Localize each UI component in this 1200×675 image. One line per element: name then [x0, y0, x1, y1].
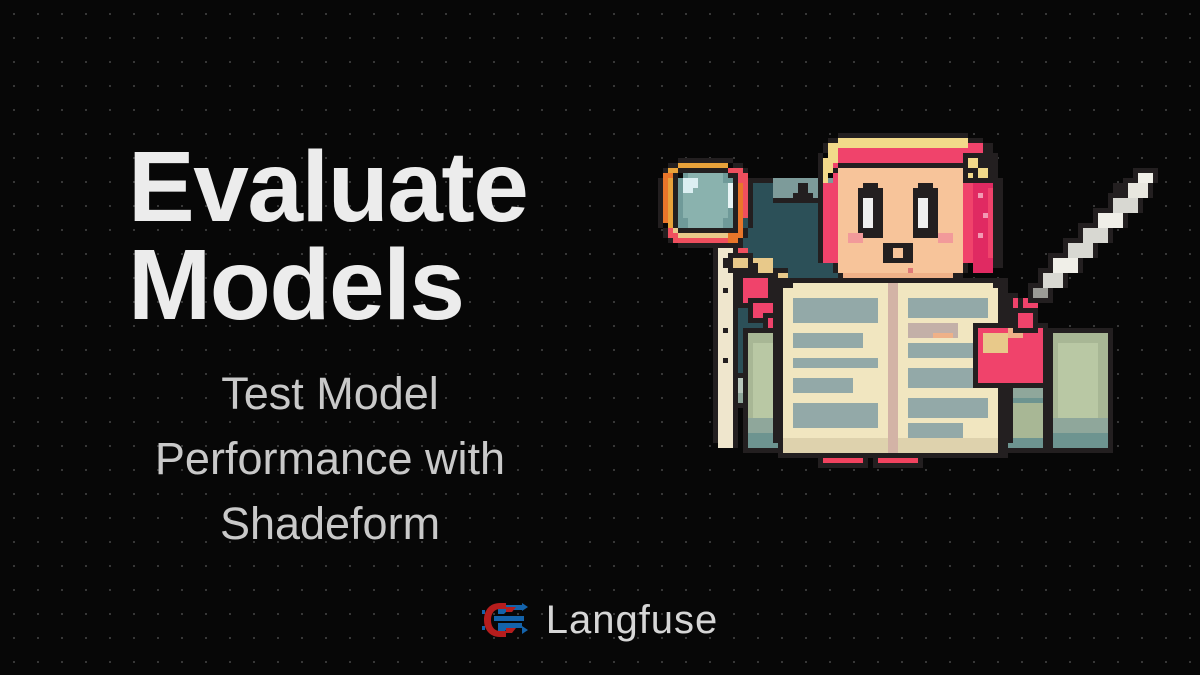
hero-illustration: [618, 128, 1188, 508]
langfuse-logo-svg: [482, 601, 528, 639]
illustration-layers: [658, 133, 1158, 468]
text-column: Evaluate Models Test Model Performance w…: [0, 0, 600, 675]
page-subtitle: Test Model Performance with Shadeform: [60, 362, 600, 556]
langfuse-logo-icon: [482, 601, 528, 639]
poster-canvas: Evaluate Models Test Model Performance w…: [0, 0, 1200, 675]
brand-name: Langfuse: [546, 600, 719, 640]
pixel-art-svg: [618, 128, 1188, 508]
brand-footer: Langfuse: [0, 600, 1200, 640]
page-title: Evaluate Models: [0, 138, 600, 334]
